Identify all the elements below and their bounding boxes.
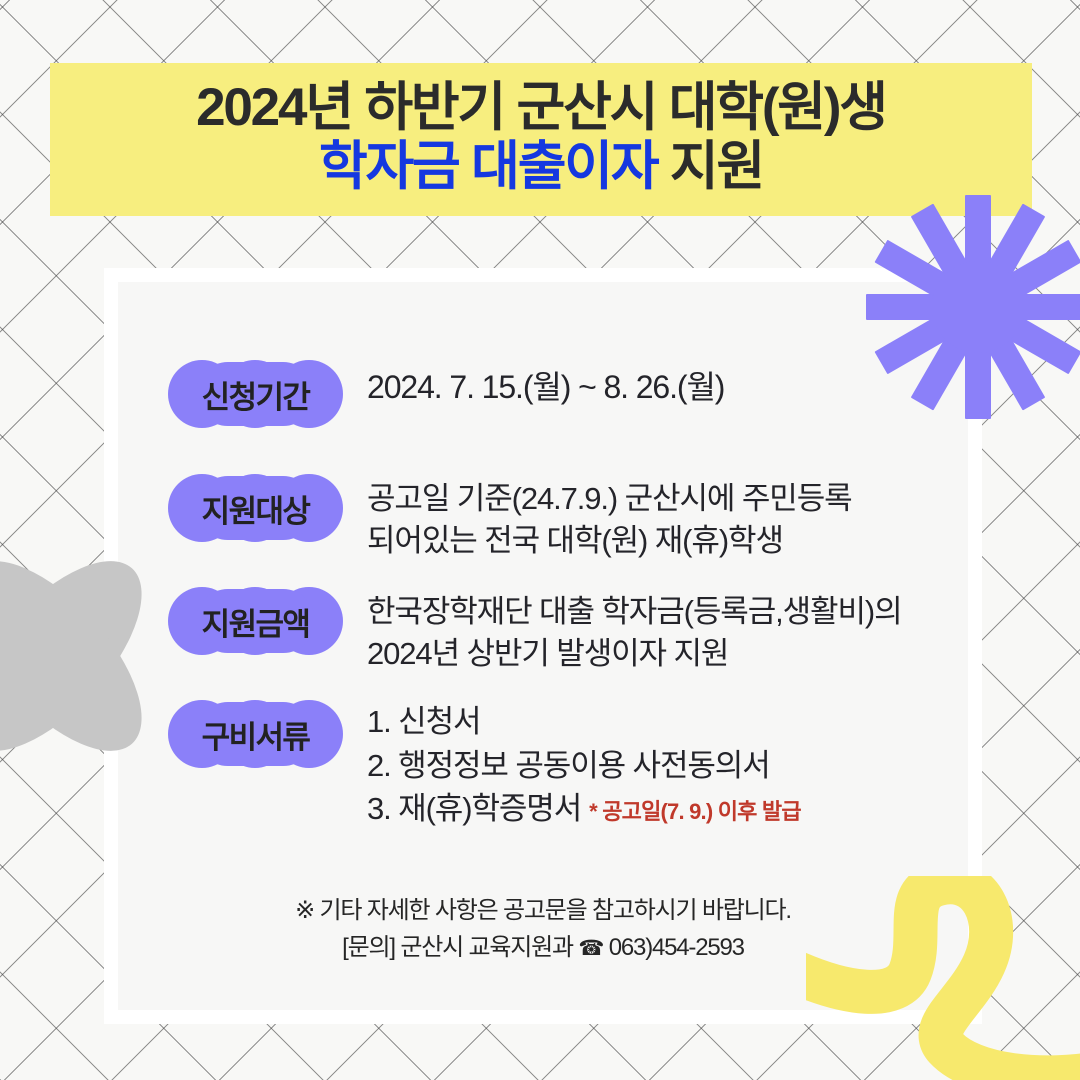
document-issue-note: * 공고일(7. 9.) 이후 발급 <box>589 799 801 824</box>
badge-eligibility: 지원대상 <box>168 474 343 542</box>
badge-required-documents: 구비서류 <box>168 700 343 768</box>
badge-label: 지원금액 <box>168 587 343 655</box>
info-line: 한국장학재단 대출 학자금(등록금,생활비)의 <box>367 591 938 633</box>
document-item-text: 3. 재(휴)학증명서 <box>367 791 581 826</box>
title-banner: 2024년 하반기 군산시 대학(원)생 학자금 대출이자 지원 <box>50 63 1032 216</box>
info-row-support-amount: 지원금액 한국장학재단 대출 학자금(등록금,생활비)의 2024년 상반기 발… <box>168 587 938 674</box>
badge-label: 구비서류 <box>168 700 343 768</box>
info-line: 공고일 기준(24.7.9.) 군산시에 주민등록 <box>367 478 938 520</box>
info-body-required-documents: 1. 신청서 2. 행정정보 공동이용 사전동의서 3. 재(휴)학증명서* 공… <box>367 700 938 830</box>
title-highlight-text: 학자금 대출이자 <box>319 137 657 196</box>
badge-label: 지원대상 <box>168 474 343 542</box>
badge-application-period: 신청기간 <box>168 360 343 428</box>
footer-phone-number: 063)454-2593 <box>609 934 744 961</box>
title-line-1: 2024년 하반기 군산시 대학(원)생 <box>196 78 886 138</box>
footer-contact-label: [문의] 군산시 교육지원과 <box>342 934 573 961</box>
info-line: 되어있는 전국 대학(원) 재(휴)학생 <box>367 520 938 562</box>
info-body-eligibility: 공고일 기준(24.7.9.) 군산시에 주민등록 되어있는 전국 대학(원) … <box>367 474 938 561</box>
info-line: 2024년 상반기 발생이자 지원 <box>367 633 938 675</box>
telephone-icon: ☎ <box>578 937 603 960</box>
info-line: 2024. 7. 15.(월) ~ 8. 26.(월) <box>367 366 938 409</box>
document-item: 2. 행정정보 공동이용 사전동의서 <box>367 744 938 787</box>
info-body-application-period: 2024. 7. 15.(월) ~ 8. 26.(월) <box>367 360 938 409</box>
document-item-with-note: 3. 재(휴)학증명서* 공고일(7. 9.) 이후 발급 <box>367 787 938 830</box>
document-item: 1. 신청서 <box>367 700 938 743</box>
info-row-application-period: 신청기간 2024. 7. 15.(월) ~ 8. 26.(월) <box>168 360 938 428</box>
title-line-2: 학자금 대출이자 지원 <box>319 137 763 197</box>
footer-disclaimer: ※ 기타 자세한 사항은 공고문을 참고하시기 바랍니다. <box>118 892 968 929</box>
content-card: 신청기간 2024. 7. 15.(월) ~ 8. 26.(월) 지원대상 공고… <box>104 268 982 1024</box>
footer: ※ 기타 자세한 사항은 공고문을 참고하시기 바랍니다. [문의] 군산시 교… <box>118 892 968 966</box>
title-rest-text: 지원 <box>657 137 763 196</box>
content-card-inner: 신청기간 2024. 7. 15.(월) ~ 8. 26.(월) 지원대상 공고… <box>118 282 968 1010</box>
footer-contact: [문의] 군산시 교육지원과 ☎ 063)454-2593 <box>118 929 968 966</box>
info-rows: 신청기간 2024. 7. 15.(월) ~ 8. 26.(월) 지원대상 공고… <box>118 360 968 830</box>
info-body-support-amount: 한국장학재단 대출 학자금(등록금,생활비)의 2024년 상반기 발생이자 지… <box>367 587 938 674</box>
info-row-eligibility: 지원대상 공고일 기준(24.7.9.) 군산시에 주민등록 되어있는 전국 대… <box>168 474 938 561</box>
badge-label: 신청기간 <box>168 360 343 428</box>
info-row-required-documents: 구비서류 1. 신청서 2. 행정정보 공동이용 사전동의서 3. 재(휴)학증… <box>168 700 938 830</box>
badge-support-amount: 지원금액 <box>168 587 343 655</box>
